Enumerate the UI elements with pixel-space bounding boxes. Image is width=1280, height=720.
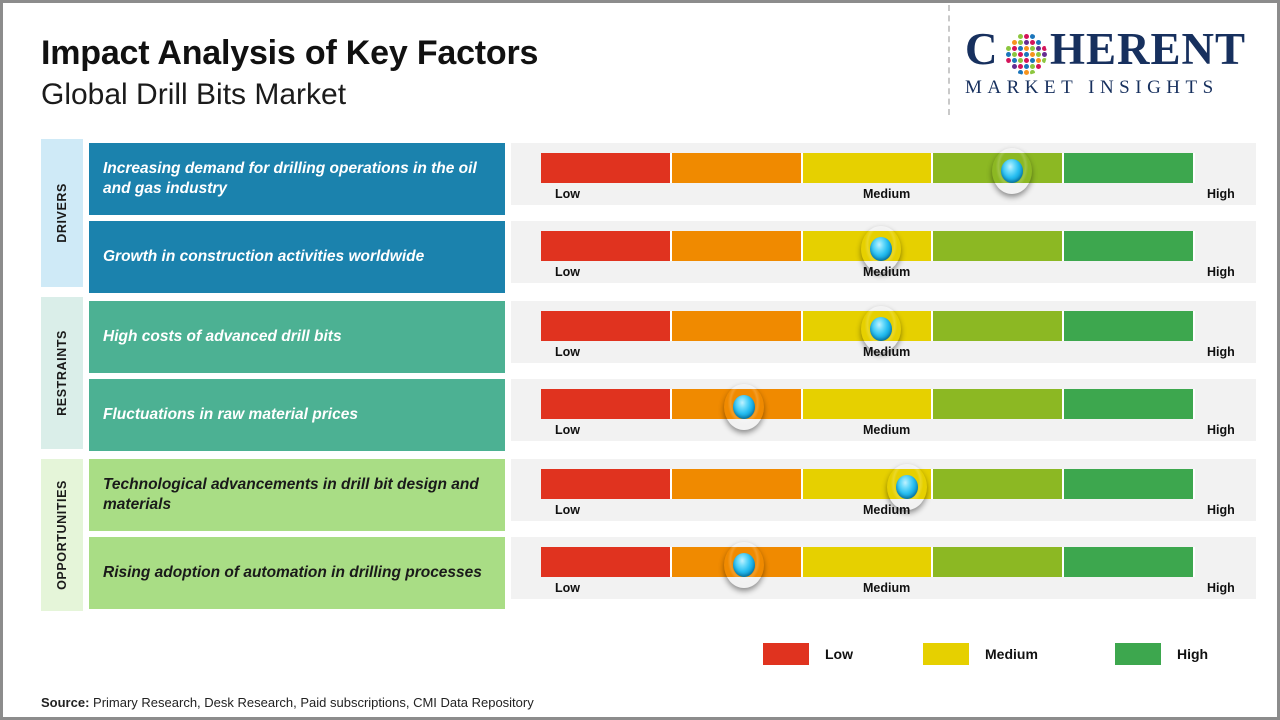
globe-dot [1024, 34, 1029, 39]
scale-segment-5 [1064, 311, 1195, 341]
impact-scales: LowMediumHighLowMediumHighLowMediumHighL… [511, 139, 1256, 611]
globe-dot [1030, 40, 1035, 45]
factor-text: Growth in construction activities worldw… [103, 247, 424, 267]
legend-swatch [1115, 643, 1161, 665]
category-band-opportunities: OPPORTUNITIES [41, 459, 83, 611]
globe-dot [1018, 46, 1023, 51]
scale-tick-labels: LowMediumHigh [541, 503, 1241, 519]
factor-text: Technological advancements in drill bit … [103, 475, 491, 515]
category-band-restraints: RESTRAINTS [41, 297, 83, 449]
scale-segment-1 [541, 231, 672, 261]
scale-segment-2 [672, 153, 803, 183]
globe-dot [1018, 64, 1023, 69]
globe-dot [1024, 40, 1029, 45]
factor-text: Fluctuations in raw material prices [103, 405, 358, 425]
source-label: Source: [41, 695, 89, 710]
coherent-market-insights-logo: C HERENT MARKET INSIGHTS [965, 23, 1265, 107]
globe-dot [1024, 64, 1029, 69]
logo-word-rest: HERENT [1050, 23, 1246, 75]
globe-dot [1006, 58, 1011, 63]
globe-dot [1018, 70, 1023, 75]
scale-label-high: High [1207, 265, 1235, 279]
impact-scale-track[interactable] [541, 231, 1195, 261]
title-block: Impact Analysis of Key Factors Global Dr… [41, 33, 538, 114]
scale-segment-2 [672, 311, 803, 341]
factor-text: Rising adoption of automation in drillin… [103, 563, 482, 583]
impact-scale-row: LowMediumHigh [511, 221, 1256, 283]
impact-matrix: DRIVERSRESTRAINTSOPPORTUNITIES Increasin… [3, 139, 1280, 619]
scale-tick-labels: LowMediumHigh [541, 265, 1241, 281]
logo-tagline: MARKET INSIGHTS [965, 77, 1265, 99]
scale-segment-1 [541, 469, 672, 499]
legend: LowMediumHigh [763, 643, 1203, 669]
factor-boxes: Increasing demand for drilling operation… [89, 139, 505, 611]
legend-item-low[interactable]: Low [763, 643, 853, 665]
globe-dot [1012, 64, 1017, 69]
impact-scale-row: LowMediumHigh [511, 537, 1256, 599]
scale-segment-1 [541, 547, 672, 577]
factor-box[interactable]: Fluctuations in raw material prices [89, 379, 505, 451]
logo-letter-c: C [965, 23, 999, 75]
scale-label-high: High [1207, 503, 1235, 517]
scale-label-low: Low [555, 187, 580, 201]
scale-label-high: High [1207, 187, 1235, 201]
impact-scale-row: LowMediumHigh [511, 459, 1256, 521]
scale-segment-4 [933, 389, 1064, 419]
logo-wordmark: C HERENT [965, 23, 1265, 75]
category-label: DRIVERS [55, 183, 69, 243]
page-title: Impact Analysis of Key Factors [41, 33, 538, 73]
impact-scale-track[interactable] [541, 311, 1195, 341]
globe-dot [1024, 52, 1029, 57]
scale-label-low: Low [555, 265, 580, 279]
category-bands: DRIVERSRESTRAINTSOPPORTUNITIES [41, 139, 83, 611]
category-label: RESTRAINTS [55, 330, 69, 416]
impact-marker-core [870, 237, 892, 261]
scale-segment-5 [1064, 231, 1195, 261]
scale-segment-4 [933, 311, 1064, 341]
factor-box[interactable]: Technological advancements in drill bit … [89, 459, 505, 531]
impact-scale-row: LowMediumHigh [511, 301, 1256, 363]
legend-label: Low [825, 646, 853, 662]
category-label: OPPORTUNITIES [55, 480, 69, 590]
scale-label-low: Low [555, 503, 580, 517]
globe-dot [1042, 52, 1047, 57]
scale-label-low: Low [555, 345, 580, 359]
legend-label: Medium [985, 646, 1038, 662]
impact-scale-row: LowMediumHigh [511, 379, 1256, 441]
globe-dot [1036, 52, 1041, 57]
scale-segment-4 [933, 231, 1064, 261]
header-dashed-divider [948, 5, 950, 115]
scale-label-medium: Medium [863, 265, 910, 279]
globe-dot [1030, 46, 1035, 51]
globe-dot [1018, 58, 1023, 63]
impact-scale-track[interactable] [541, 153, 1195, 183]
scale-label-medium: Medium [863, 581, 910, 595]
globe-dot [1024, 46, 1029, 51]
globe-dot [1012, 46, 1017, 51]
scale-segment-5 [1064, 153, 1195, 183]
factor-box[interactable]: Increasing demand for drilling operation… [89, 143, 505, 215]
factor-box[interactable]: High costs of advanced drill bits [89, 301, 505, 373]
scale-segment-4 [933, 469, 1064, 499]
globe-dot [1036, 64, 1041, 69]
globe-dot [1042, 58, 1047, 63]
scale-segment-4 [933, 547, 1064, 577]
legend-swatch [763, 643, 809, 665]
globe-dot [1006, 52, 1011, 57]
scale-segment-1 [541, 311, 672, 341]
scale-label-medium: Medium [863, 423, 910, 437]
category-band-drivers: DRIVERS [41, 139, 83, 287]
globe-dot [1042, 46, 1047, 51]
globe-dot [1012, 58, 1017, 63]
scale-label-medium: Medium [863, 503, 910, 517]
legend-label: High [1177, 646, 1208, 662]
scale-segment-2 [672, 231, 803, 261]
globe-dot [1030, 52, 1035, 57]
globe-dot [1006, 46, 1011, 51]
globe-dot [1036, 58, 1041, 63]
impact-marker-core [733, 395, 755, 419]
impact-marker-core [870, 317, 892, 341]
globe-dot [1012, 40, 1017, 45]
slide-canvas: Impact Analysis of Key Factors Global Dr… [0, 0, 1280, 720]
impact-scale-track[interactable] [541, 547, 1195, 577]
globe-dot [1030, 34, 1035, 39]
globe-dot [1036, 46, 1041, 51]
scale-segment-5 [1064, 389, 1195, 419]
scale-segment-5 [1064, 547, 1195, 577]
header: Impact Analysis of Key Factors Global Dr… [3, 3, 1280, 131]
scale-label-medium: Medium [863, 345, 910, 359]
source-footer: Source: Primary Research, Desk Research,… [41, 695, 534, 710]
scale-segment-1 [541, 153, 672, 183]
globe-dot [1012, 52, 1017, 57]
source-text: Primary Research, Desk Research, Paid su… [89, 695, 533, 710]
legend-item-high[interactable]: High [1115, 643, 1208, 665]
scale-segment-3 [803, 153, 934, 183]
impact-scale-track[interactable] [541, 469, 1195, 499]
scale-segment-1 [541, 389, 672, 419]
globe-dot [1024, 58, 1029, 63]
scale-label-high: High [1207, 581, 1235, 595]
globe-dot [1030, 70, 1035, 75]
globe-dot [1024, 70, 1029, 75]
page-subtitle: Global Drill Bits Market [41, 76, 538, 114]
globe-dot [1018, 52, 1023, 57]
factor-box[interactable]: Rising adoption of automation in drillin… [89, 537, 505, 609]
scale-tick-labels: LowMediumHigh [541, 423, 1241, 439]
scale-segment-3 [803, 547, 934, 577]
impact-scale-track[interactable] [541, 389, 1195, 419]
scale-segment-2 [672, 469, 803, 499]
globe-dot [1018, 40, 1023, 45]
globe-icon [1005, 33, 1047, 75]
scale-label-low: Low [555, 581, 580, 595]
globe-dot [1030, 58, 1035, 63]
globe-dot [1018, 34, 1023, 39]
impact-scale-row: LowMediumHigh [511, 143, 1256, 205]
scale-label-high: High [1207, 345, 1235, 359]
scale-tick-labels: LowMediumHigh [541, 581, 1241, 597]
factor-box[interactable]: Growth in construction activities worldw… [89, 221, 505, 293]
factor-text: High costs of advanced drill bits [103, 327, 342, 347]
globe-dot [1036, 40, 1041, 45]
scale-label-low: Low [555, 423, 580, 437]
legend-item-medium[interactable]: Medium [923, 643, 1038, 665]
scale-label-high: High [1207, 423, 1235, 437]
scale-segment-3 [803, 389, 934, 419]
scale-tick-labels: LowMediumHigh [541, 187, 1241, 203]
globe-dot [1030, 64, 1035, 69]
impact-marker-core [1001, 159, 1023, 183]
factor-text: Increasing demand for drilling operation… [103, 159, 491, 199]
legend-swatch [923, 643, 969, 665]
scale-label-medium: Medium [863, 187, 910, 201]
scale-segment-5 [1064, 469, 1195, 499]
impact-marker-core [733, 553, 755, 577]
scale-tick-labels: LowMediumHigh [541, 345, 1241, 361]
